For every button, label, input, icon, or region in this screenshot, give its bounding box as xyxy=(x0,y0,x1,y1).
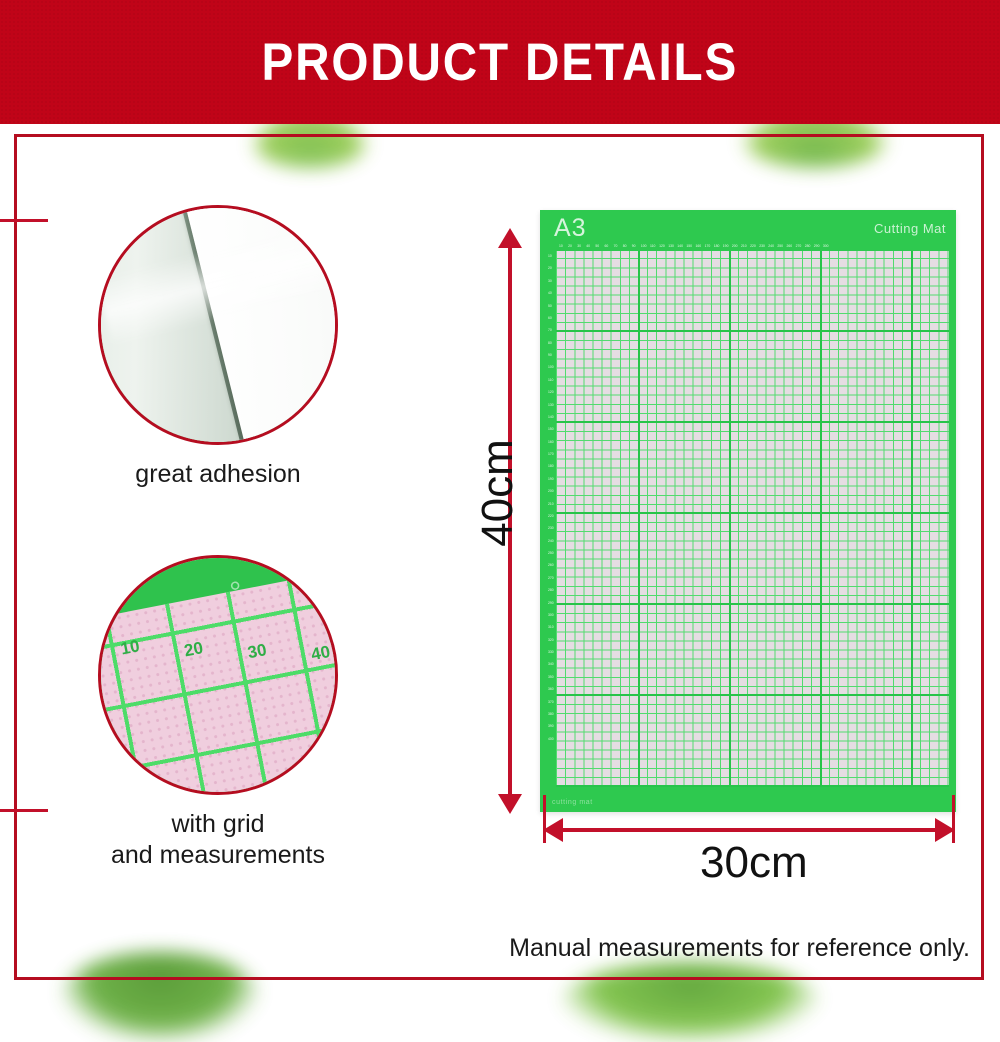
mat-ruler-tick-left: 50 xyxy=(548,302,552,310)
mat-ruler-tick-top: 30 xyxy=(577,242,581,251)
mat-ruler-tick-top: 40 xyxy=(586,242,590,251)
header-banner: PRODUCT DETAILS xyxy=(0,0,1000,124)
page-title: PRODUCT DETAILS xyxy=(262,32,739,93)
mat-ruler-tick-top: 20 xyxy=(568,242,572,251)
mat-ruler-tick-left: 210 xyxy=(548,500,554,508)
mat-ruler-tick-top: 190 xyxy=(723,242,729,251)
mat-ruler-tick-top: 120 xyxy=(659,242,665,251)
dimension-tick-bottom xyxy=(0,809,48,812)
mat-ruler-tick-top: 50 xyxy=(595,242,599,251)
mat-ruler-tick-top: 250 xyxy=(777,242,783,251)
mat-ruler-tick-left: 30 xyxy=(548,277,552,285)
mat-ruler-tick-left: 180 xyxy=(548,462,554,470)
mat-ruler-tick-top: 10 xyxy=(559,242,563,251)
caption-grid-measurements: with grid and measurements xyxy=(68,809,368,870)
mat-ruler-tick-top: 170 xyxy=(705,242,711,251)
grid-number: 10 xyxy=(119,636,141,659)
mat-size-label: A3 xyxy=(554,214,587,243)
mat-ruler-tick-top: 100 xyxy=(641,242,647,251)
mat-ruler-tick-left: 360 xyxy=(548,685,554,693)
mat-ruler-tick-left: 350 xyxy=(548,673,554,681)
grid-number: 30 xyxy=(246,640,268,663)
mat-ruler-tick-left: 70 xyxy=(548,326,552,334)
arrowhead-right-icon xyxy=(935,818,955,842)
mat-ruler-tick-left: 280 xyxy=(548,586,554,594)
grid-number: 20 xyxy=(182,638,204,661)
mat-ruler-tick-top: 290 xyxy=(814,242,820,251)
mat-ruler-tick-left: 10 xyxy=(548,252,552,260)
mat-ruler-tick-top: 160 xyxy=(696,242,702,251)
feature-great-adhesion: great adhesion xyxy=(68,205,368,490)
mat-ruler-tick-left: 230 xyxy=(548,524,554,532)
mat-ruler-tick-top: 130 xyxy=(668,242,674,251)
mat-ruler-tick-left: 200 xyxy=(548,487,554,495)
mat-ruler-tick-top: 220 xyxy=(750,242,756,251)
mat-ruler-tick-left: 40 xyxy=(548,289,552,297)
mat-ruler-tick-top: 80 xyxy=(623,242,627,251)
mat-ruler-tick-top: 180 xyxy=(714,242,720,251)
product-photo-cutting-mat: A3 Cutting Mat 1020304050607080901001101… xyxy=(540,210,956,812)
mat-ruler-tick-top: 300 xyxy=(823,242,829,251)
mat-ruler-tick-left: 160 xyxy=(548,438,554,446)
adhesion-photo-content xyxy=(101,208,335,442)
arrowhead-down-icon xyxy=(498,794,522,814)
mat-ruler-tick-left: 370 xyxy=(548,698,554,706)
mat-ruler-tick-left: 150 xyxy=(548,425,554,433)
mat-ruler-tick-left: 310 xyxy=(548,623,554,631)
mat-ruler-tick-left: 290 xyxy=(548,599,554,607)
disclaimer-text: Manual measurements for reference only. xyxy=(509,934,970,963)
mat-ruler-tick-top: 270 xyxy=(796,242,802,251)
mat-ruler-tick-top: 70 xyxy=(614,242,618,251)
mat-ruler-tick-left: 300 xyxy=(548,611,554,619)
mat-ruler-tick-top: 240 xyxy=(768,242,774,251)
mat-ruler-tick-left: 140 xyxy=(548,413,554,421)
mat-ruler-tick-top: 230 xyxy=(759,242,765,251)
grid-photo-content: sigma 10 20 30 40 50 20 30 40 xyxy=(101,558,335,792)
mat-ruler-tick-left: 20 xyxy=(548,264,552,272)
mat-ruler-left: 1020304050607080901001101201301401501601… xyxy=(547,242,556,787)
mat-ruler-tick-left: 380 xyxy=(548,710,554,718)
mat-ruler-tick-left: 130 xyxy=(548,401,554,409)
feature-grid-measurements: sigma 10 20 30 40 50 20 30 40 with grid … xyxy=(68,555,368,870)
grid-sheet: 10 20 30 40 50 20 30 40 xyxy=(98,565,338,795)
photo-grid-measurements: sigma 10 20 30 40 50 20 30 40 xyxy=(98,555,338,795)
mat-ruler-tick-left: 60 xyxy=(548,314,552,322)
mat-ruler-tick-top: 280 xyxy=(805,242,811,251)
mat-ruler-tick-left: 270 xyxy=(548,574,554,582)
mat-ruler-tick-top: 260 xyxy=(787,242,793,251)
mat-bold-grid xyxy=(547,242,949,787)
grid-lines xyxy=(98,565,338,795)
mat-brand-label: Cutting Mat xyxy=(874,221,946,236)
mat-ruler-tick-left: 100 xyxy=(548,363,554,371)
dimension-line-horizontal xyxy=(553,828,945,832)
mat-ruler-tick-left: 320 xyxy=(548,636,554,644)
dimension-label-height: 40cm xyxy=(473,439,523,547)
mat-ruler-tick-top: 110 xyxy=(650,242,655,251)
mat-ruler-tick-top: 140 xyxy=(677,242,683,251)
photo-great-adhesion xyxy=(98,205,338,445)
dimension-tick-top xyxy=(0,219,48,222)
mat-ruler-tick-left: 80 xyxy=(548,339,552,347)
mat-ruler-tick-left: 340 xyxy=(548,660,554,668)
mat-ruler-tick-top: 200 xyxy=(732,242,738,251)
mat-ruler-tick-left: 260 xyxy=(548,561,554,569)
mat-ruler-tick-left: 190 xyxy=(548,475,554,483)
mat-ruler-top: 1020304050607080901001101201301401501601… xyxy=(547,242,949,251)
mat-ruler-tick-top: 150 xyxy=(686,242,692,251)
mat-bottom-text: cutting mat xyxy=(552,799,593,806)
mat-ruler-tick-left: 390 xyxy=(548,722,554,730)
mat-grid-area: 1020304050607080901001101201301401501601… xyxy=(547,242,949,787)
mat-ruler-tick-top: 60 xyxy=(605,242,609,251)
grid-number: 40 xyxy=(310,642,332,665)
mat-ruler-tick-left: 170 xyxy=(548,450,554,458)
mat-ruler-tick-left: 90 xyxy=(548,351,552,359)
mat-ruler-tick-top: 210 xyxy=(741,242,747,251)
mat-ruler-tick-left: 120 xyxy=(548,388,554,396)
mat-ruler-tick-left: 250 xyxy=(548,549,554,557)
caption-great-adhesion: great adhesion xyxy=(68,459,368,490)
mat-ruler-tick-left: 240 xyxy=(548,537,554,545)
mat-ruler-tick-left: 330 xyxy=(548,648,554,656)
mat-ruler-tick-left: 110 xyxy=(548,376,553,384)
mat-ruler-tick-top: 90 xyxy=(632,242,636,251)
dimension-label-width: 30cm xyxy=(700,838,808,888)
mat-ruler-tick-left: 400 xyxy=(548,735,554,743)
mat-ruler-tick-left: 220 xyxy=(548,512,554,520)
